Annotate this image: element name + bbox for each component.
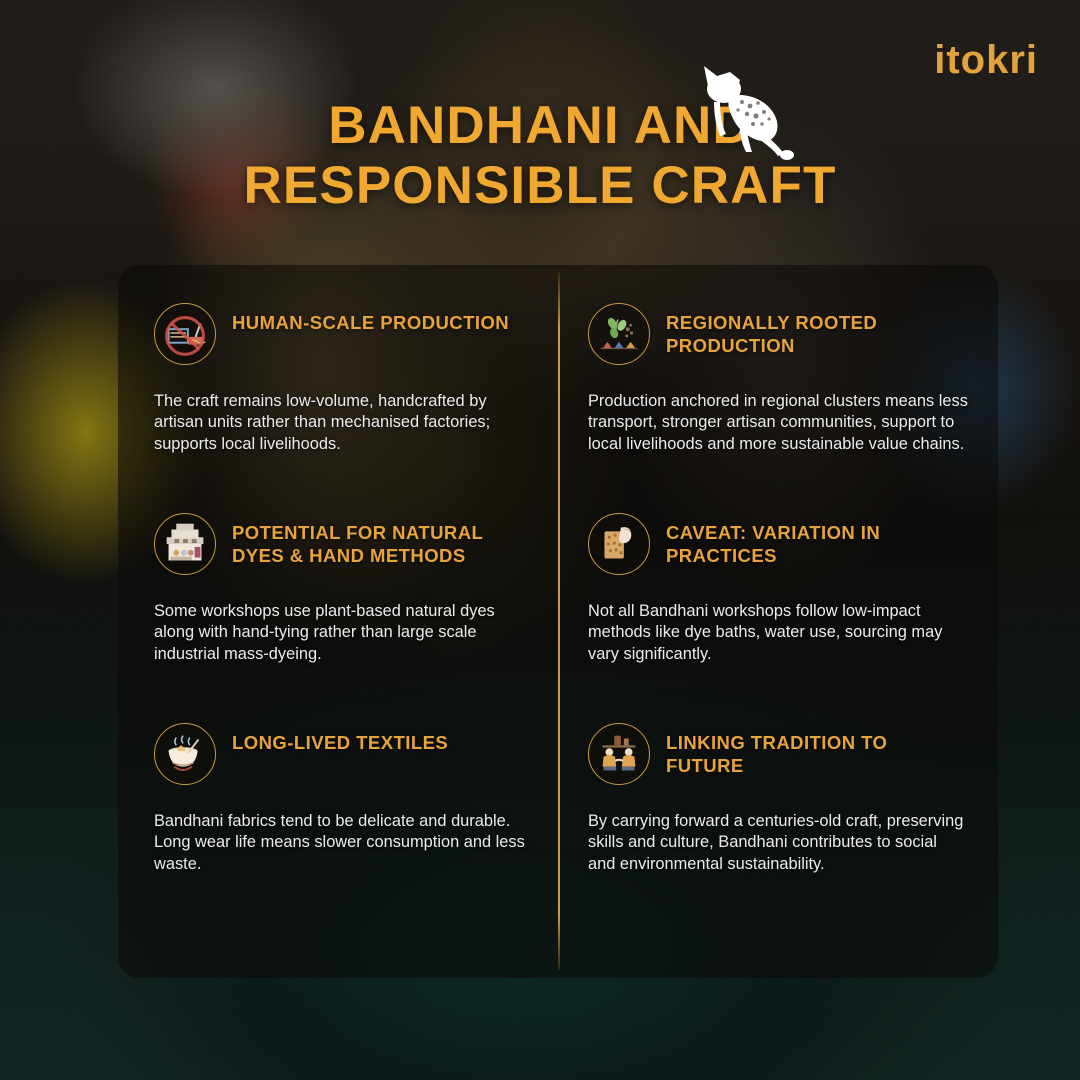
feature-header: LONG-LIVED TEXTILES bbox=[154, 723, 528, 785]
brand-logo-text: itokri bbox=[934, 38, 1038, 82]
feature-title: CAVEAT: VARIATION IN PRACTICES bbox=[666, 513, 968, 567]
two-artisans-icon bbox=[588, 723, 650, 785]
feature-block-human-scale-production: HUMAN-SCALE PRODUCTION The craft remains… bbox=[118, 303, 558, 513]
feature-body: By carrying forward a centuries-old craf… bbox=[588, 811, 968, 875]
brand-logo[interactable]: itokri bbox=[934, 40, 1038, 80]
feature-grid: HUMAN-SCALE PRODUCTION The craft remains… bbox=[118, 265, 998, 978]
hand-holding-fabric-icon bbox=[588, 513, 650, 575]
feature-title: POTENTIAL FOR NATURAL DYES & HAND METHOD… bbox=[232, 513, 528, 567]
steaming-dye-pot-icon bbox=[154, 723, 216, 785]
feature-block-natural-dyes-hand-methods: POTENTIAL FOR NATURAL DYES & HAND METHOD… bbox=[118, 513, 558, 723]
feature-block-linking-tradition-to-future: LINKING TRADITION TO FUTURE By carrying … bbox=[558, 723, 998, 933]
poster-title-line-2: RESPONSIBLE CRAFT bbox=[0, 156, 1080, 216]
feature-header: REGIONALLY ROOTED PRODUCTION bbox=[588, 303, 968, 365]
feature-title: LONG-LIVED TEXTILES bbox=[232, 723, 448, 755]
feature-header: HUMAN-SCALE PRODUCTION bbox=[154, 303, 528, 365]
feature-header: CAVEAT: VARIATION IN PRACTICES bbox=[588, 513, 968, 575]
craft-workshop-building-icon bbox=[154, 513, 216, 575]
feature-title: REGIONALLY ROOTED PRODUCTION bbox=[666, 303, 968, 357]
feature-body: Some workshops use plant-based natural d… bbox=[154, 601, 528, 665]
feature-body: Not all Bandhani workshops follow low-im… bbox=[588, 601, 968, 665]
poster-title: BANDHANI AND RESPONSIBLE CRAFT bbox=[0, 96, 1080, 216]
feature-block-caveat-variation-in-practices: CAVEAT: VARIATION IN PRACTICES Not all B… bbox=[558, 513, 998, 723]
no-factory-icon bbox=[154, 303, 216, 365]
feature-title: LINKING TRADITION TO FUTURE bbox=[666, 723, 968, 777]
feature-header: POTENTIAL FOR NATURAL DYES & HAND METHOD… bbox=[154, 513, 528, 575]
feature-header: LINKING TRADITION TO FUTURE bbox=[588, 723, 968, 785]
poster-title-line-1: BANDHANI AND bbox=[0, 96, 1080, 156]
feature-title: HUMAN-SCALE PRODUCTION bbox=[232, 303, 509, 335]
feature-block-regionally-rooted-production: REGIONALLY ROOTED PRODUCTION Production … bbox=[558, 303, 998, 513]
feature-body: Bandhani fabrics tend to be delicate and… bbox=[154, 811, 528, 875]
seedling-mounds-icon bbox=[588, 303, 650, 365]
infographic-poster: itokri BANDHANI AND RESPONSIBLE CRAFT bbox=[0, 0, 1080, 1080]
cat-illustration bbox=[690, 56, 800, 161]
feature-body: Production anchored in regional clusters… bbox=[588, 391, 968, 455]
feature-block-long-lived-textiles: LONG-LIVED TEXTILES Bandhani fabrics ten… bbox=[118, 723, 558, 933]
feature-body: The craft remains low-volume, handcrafte… bbox=[154, 391, 528, 455]
